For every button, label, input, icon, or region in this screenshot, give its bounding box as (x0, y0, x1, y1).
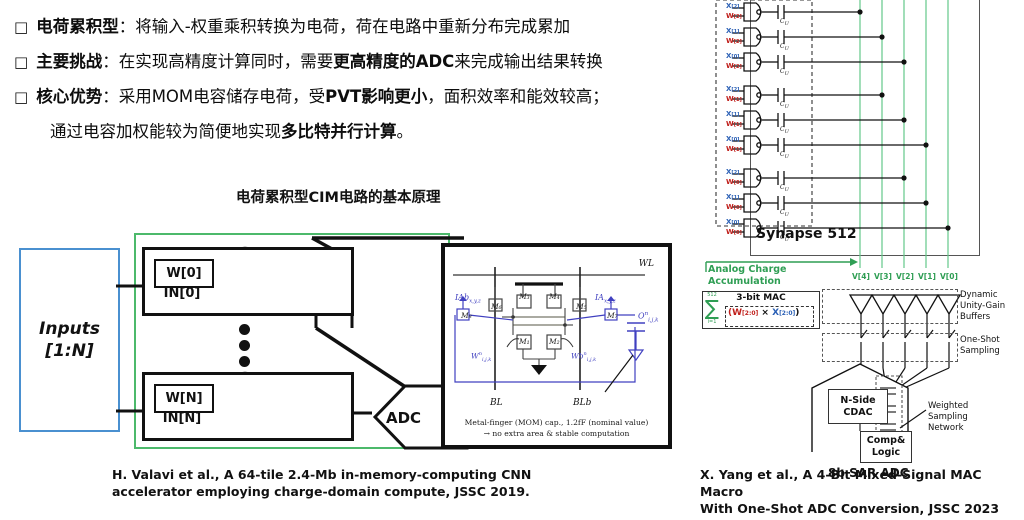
v-label-3: V[3] (874, 272, 892, 281)
cap-label-6: CU (780, 184, 789, 193)
inset-bl-label: BL (490, 398, 503, 408)
left-figure-caption: H. Valavi et al., A 64-tile 2.4-Mb in-me… (112, 466, 542, 500)
sigma-glyph: ∑ (705, 296, 719, 320)
buffers-label: Dynamic Unity-Gain Buffers (960, 290, 1022, 323)
w-sub-7: [0] (734, 205, 742, 211)
inputs-label-line1: Inputs (39, 318, 100, 340)
cap-label-0: CU (780, 18, 789, 27)
sram-cell-inset: WL BL BLb IAbx,y,z IAx,y,z Oni,j,k M₈ M₆… (441, 243, 672, 449)
inset-m6-label: M₆ (491, 302, 502, 311)
cu-sub-6: U (785, 187, 789, 193)
n-side-cdac-block: N-Side CDAC (828, 389, 888, 424)
x-sub-5: [0] (731, 137, 739, 143)
figure-title: 电荷累积型CIM电路的基本原理 (236, 186, 440, 207)
gate-input-label-1: X[1]W[2] (726, 27, 742, 46)
x-sub-7: [1] (731, 195, 739, 201)
w-label-0: W (726, 12, 734, 20)
bullet-3-body-pre: 采用MOM电容储存电荷，受 (119, 87, 325, 106)
weight-box-top: W[0] (154, 259, 214, 288)
w-label-8: W (726, 228, 734, 236)
v-label-4: V[4] (852, 272, 870, 281)
input-label-top: IN[0] (154, 286, 210, 301)
comp-line1: Comp& (867, 435, 905, 447)
w-sub-3: [1] (734, 97, 742, 103)
cu-sub-1: U (785, 46, 789, 52)
wsn-line2: Sampling (928, 412, 968, 423)
w-label-3: W (726, 95, 734, 103)
bullet-2-colon: ： (102, 52, 119, 71)
w-label-4: W (726, 120, 734, 128)
v-label-2: V[2] (896, 272, 914, 281)
w-sub-0: [2] (734, 14, 742, 20)
inset-m1-label: M₁ (519, 337, 530, 346)
bullet-item-2: □ 主要挑战：在实现高精度计算同时，需要更高精度的ADC来完成输出结果转换 (14, 49, 704, 75)
bullet-2-label: 主要挑战 (36, 52, 102, 71)
mac-x-sub: [2:0] (779, 310, 795, 317)
gate-input-label-8: X[0]W[0] (726, 218, 742, 237)
mac-close: ) (795, 308, 799, 318)
x-sub-3: [2] (731, 87, 739, 93)
gate-input-label-5: X[0]W[1] (726, 135, 742, 154)
w-sub-4: [1] (734, 122, 742, 128)
inset-caption-line2: → no extra area & stable computation (445, 428, 668, 439)
right-caption-line2: With One-Shot ADC Conversion, JSSC 2023 (700, 500, 1020, 517)
comparator-logic-block: Comp& Logic (860, 431, 912, 463)
inset-m4-label: M₄ (549, 292, 560, 301)
w-sub-8: [0] (734, 230, 742, 236)
analog-charge-accumulation-label: Analog Charge Accumulation (708, 264, 828, 288)
left-caption-line2: accelerator employing charge-domain comp… (112, 483, 542, 500)
bullet-3-continuation: 通过电容加权能较为简便地实现多比特并行计算。 (50, 119, 704, 145)
inset-m8-label: M₈ (461, 311, 472, 320)
inset-caption: Metal-finger (MOM) cap., 1.2fF (nominal … (445, 417, 668, 439)
bullet-list: □ 电荷累积型：将输入-权重乘积转换为电荷，荷在电路中重新分布完成累加 □ 主要… (14, 14, 704, 145)
w-label-5: W (726, 145, 734, 153)
weight-box-bottom: W[N] (154, 384, 214, 413)
input-label-bottom: IN[N] (154, 411, 210, 426)
bullet-square-icon: □ (14, 84, 28, 110)
gate-input-label-0: X[2]W[2] (726, 2, 742, 21)
gate-input-label-4: X[1]W[1] (726, 110, 742, 129)
mac-formula: (W[2:0] × X[2:0]) (728, 308, 799, 318)
synapse-count-label: Synapse 512 (756, 226, 857, 242)
x-sub-1: [1] (731, 29, 739, 35)
w-sub-2: [2] (734, 64, 742, 70)
wsn-line1: Weighted (928, 401, 968, 412)
cim-cell-bottom: W[N] IN[N] (142, 372, 354, 441)
w-left-text: W (471, 352, 479, 361)
inset-iab-label: IAbx,y,z (455, 293, 481, 305)
cu-sub-5: U (785, 154, 789, 160)
bullet-2-body-pre: 在实现高精度计算同时，需要 (119, 52, 334, 71)
inset-w-left-label: Wni,j,k (471, 351, 491, 363)
cap-label-7: CU (780, 209, 789, 218)
iab-text: IAb (455, 293, 469, 302)
bullet-2-text: 主要挑战：在实现高精度计算同时，需要更高精度的ADC来完成输出结果转换 (36, 49, 603, 75)
left-caption-line1: H. Valavi et al., A 64-tile 2.4-Mb in-me… (112, 466, 542, 483)
slide-root: □ 电荷累积型：将输入-权重乘积转换为电荷，荷在电路中重新分布完成累加 □ 主要… (0, 0, 1024, 520)
w-right-sub: i,j,k (587, 357, 596, 363)
cap-label-3: CU (780, 101, 789, 110)
cu-sub-0: U (785, 21, 789, 27)
ia-sub: x,y,z (604, 299, 616, 305)
gate-input-label-7: X[1]W[0] (726, 193, 742, 212)
w-label-7: W (726, 203, 734, 211)
bullet-2-body-post: 来完成输出结果转换 (454, 52, 603, 71)
x-sub-2: [0] (731, 54, 739, 60)
cap-label-5: CU (780, 151, 789, 160)
gate-input-label-6: X[2]W[0] (726, 168, 742, 187)
bullet-2-body-emph: 更高精度的ADC (333, 52, 454, 71)
cu-sub-7: U (785, 212, 789, 218)
cap-label-4: CU (780, 126, 789, 135)
w-left-sub: i,j,k (482, 357, 491, 363)
mac-open: (W (728, 308, 742, 318)
sampling-label: One-Shot Sampling (960, 335, 1022, 357)
inset-w-right-label: Wbni,j,k (571, 351, 596, 363)
bullet-1-colon: ： (119, 17, 136, 36)
cu-sub-4: U (785, 129, 789, 135)
bullet-3-text: 核心优势：采用MOM电容储存电荷，受PVT影响更小，面积效率和能效较高； (36, 84, 609, 110)
bullet-3-cont-post: 。 (397, 122, 414, 141)
weighted-sampling-network-label: Weighted Sampling Network (928, 401, 968, 434)
w-right-text: Wb (571, 352, 584, 361)
vertical-ellipsis-icon (239, 324, 250, 372)
right-figure: X[2]W[2] X[1]W[2] X[0]W[2] X[2]W[1] X[1]… (700, 0, 1024, 452)
bullet-square-icon: □ (14, 14, 28, 40)
bullet-item-1: □ 电荷累积型：将输入-权重乘积转换为电荷，荷在电路中重新分布完成累加 (14, 14, 704, 40)
x-sub-8: [0] (731, 220, 739, 226)
bullet-3-body-emph: PVT影响更小 (325, 87, 427, 106)
comp-line2: Logic (872, 447, 900, 459)
ia-text: IA (595, 293, 604, 302)
w-sub-5: [1] (734, 147, 742, 153)
inset-blb-label: BLb (573, 398, 591, 408)
adc-label: ADC (386, 409, 421, 427)
bullet-3-label: 核心优势 (36, 87, 102, 106)
mac-w-sub: [2:0] (742, 310, 758, 317)
v-label-1: V[1] (918, 272, 936, 281)
bullet-1-label: 电荷累积型 (36, 17, 119, 36)
inputs-label-line2: [1:N] (45, 340, 93, 362)
wsn-line3: Network (928, 423, 968, 434)
cu-sub-2: U (785, 71, 789, 77)
cap-label-2: CU (780, 68, 789, 77)
bullet-3-cont-pre: 通过电容加权能较为简便地实现 (50, 122, 281, 141)
buffers-dashed-box (822, 289, 958, 324)
gate-input-label-3: X[2]W[1] (726, 85, 742, 104)
w-label-6: W (726, 178, 734, 186)
onode-sub: i,j,k (648, 317, 658, 323)
w-label-1: W (726, 37, 734, 45)
bullet-3-colon: ： (102, 87, 119, 106)
gate-input-label-2: X[0]W[2] (726, 52, 742, 71)
inset-caption-line1: Metal-finger (MOM) cap., 1.2fF (nominal … (445, 417, 668, 428)
inset-m3-label: M₃ (519, 292, 530, 301)
x-sub-0: [2] (731, 4, 739, 10)
right-caption-line1: X. Yang et al., A 4-Bit Mixed-Signal MAC… (700, 466, 1020, 500)
summation-symbol: 512∑i=1 (702, 292, 722, 326)
sampling-dashed-box (822, 333, 958, 362)
w-sub-1: [2] (734, 39, 742, 45)
inset-wl-label: WL (639, 259, 654, 269)
mac-times: × (761, 308, 769, 318)
cdac-line2: CDAC (843, 407, 872, 419)
x-sub-6: [2] (731, 170, 739, 176)
bullet-3-body-post: ，面积效率和能效较高； (427, 87, 609, 106)
inputs-block: Inputs [1:N] (19, 248, 120, 432)
w-label-2: W (726, 62, 734, 70)
right-figure-caption: X. Yang et al., A 4-Bit Mixed-Signal MAC… (700, 466, 1020, 517)
bullet-1-body: 将输入-权重乘积转换为电荷，荷在电路中重新分布完成累加 (135, 17, 570, 36)
cim-cell-top: W[0] IN[0] (142, 247, 354, 316)
inset-output-node-label: Oni,j,k (638, 311, 658, 323)
inset-m2-label: M₂ (549, 337, 560, 346)
x-sub-4: [1] (731, 112, 739, 118)
inset-ia-label: IAx,y,z (595, 293, 616, 305)
inset-m5-label: M₅ (576, 302, 587, 311)
bullet-3-cont-emph: 多比特并行计算 (281, 122, 397, 141)
bullet-square-icon: □ (14, 49, 28, 75)
iab-sub: x,y,z (469, 299, 481, 305)
cap-label-1: CU (780, 43, 789, 52)
w-sub-6: [0] (734, 180, 742, 186)
bullet-1-text: 电荷累积型：将输入-权重乘积转换为电荷，荷在电路中重新分布完成累加 (36, 14, 570, 40)
v-label-0: V[0] (940, 272, 958, 281)
inset-m7-label: M₇ (607, 311, 618, 320)
cu-sub-3: U (785, 104, 789, 110)
bullet-item-3: □ 核心优势：采用MOM电容储存电荷，受PVT影响更小，面积效率和能效较高； (14, 84, 704, 110)
cdac-line1: N-Side (840, 395, 875, 407)
